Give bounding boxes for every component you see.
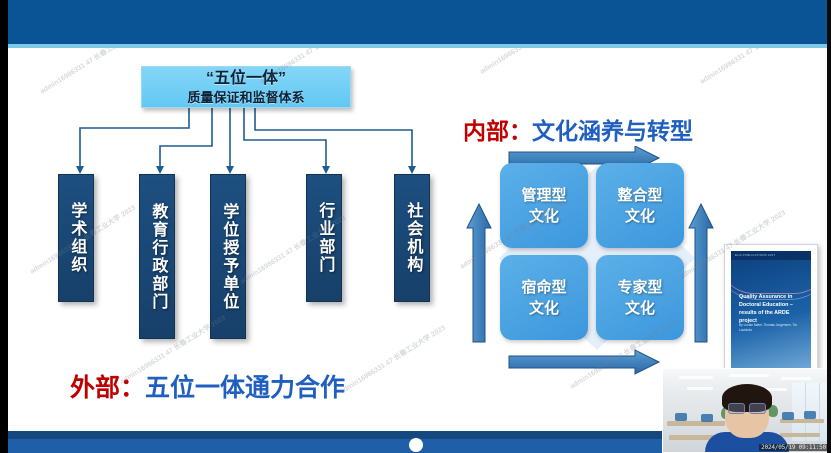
webcam-timestamp: 2024/05/19 09:11:50: [759, 444, 828, 451]
top-box-line1: “五位一体”: [142, 69, 350, 89]
pillar-social-institution: 社会机构: [394, 174, 430, 302]
heading-external: 外部：五位一体通力合作: [70, 368, 345, 404]
glasses-lens-right: [749, 403, 766, 414]
culture-quadrant: 管理型 文化 整合型 文化 宿命型 文化 专家型 文化: [498, 163, 698, 353]
desk: [667, 421, 725, 426]
pillar-label: 社会机构: [404, 202, 421, 274]
culture-line1: 宿命型: [521, 277, 566, 298]
arrow-bottom-right: [509, 350, 659, 374]
culture-box-expert: 专家型 文化: [596, 255, 684, 340]
footer-dot-indicator: [409, 438, 423, 452]
heading-internal-blue: 文化涵养与转型: [532, 118, 693, 144]
ceiling-light: [729, 374, 769, 377]
watermark: admin16986331 47 长春工业大学 2023: [698, 48, 808, 86]
webcam-room-background: [663, 369, 830, 452]
top-box-line2: 质量保证和监督体系: [142, 89, 350, 106]
culture-line1: 管理型: [521, 185, 566, 206]
webcam-video-overlay[interactable]: 2024/05/19 09:11:50: [662, 368, 831, 453]
heading-internal-red: 内部：: [463, 118, 532, 144]
slide-header-bar: [0, 0, 831, 44]
pillar-label: 行业部门: [316, 202, 333, 274]
heading-internal: 内部：文化涵养与转型: [463, 112, 693, 146]
heading-external-red: 外部：: [70, 374, 145, 402]
ceiling-light: [781, 377, 811, 380]
chair: [701, 414, 713, 422]
arrow-left-up: [467, 204, 491, 342]
culture-line2: 文化: [625, 298, 655, 319]
ceiling-light: [679, 376, 713, 379]
pillar-degree-granting-unit: 学位授予单位: [210, 174, 246, 339]
culture-line1: 整合型: [617, 185, 662, 206]
header-underline: [0, 44, 831, 48]
culture-box-integration: 整合型 文化: [596, 163, 684, 248]
pillar-label: 教育行政部门: [149, 203, 166, 311]
heading-external-blue: 五位一体通力合作: [145, 374, 345, 402]
pillar-label: 学位授予单位: [220, 203, 237, 311]
culture-line2: 文化: [625, 206, 655, 227]
left-black-gutter: [0, 0, 8, 453]
glasses-lens-left: [728, 403, 745, 414]
chair: [804, 411, 816, 419]
culture-box-fatalistic: 宿命型 文化: [500, 255, 588, 340]
ceiling-light: [687, 387, 713, 390]
watermark: admin16986331 47 长春工业大学 2023: [338, 323, 448, 397]
culture-box-management: 管理型 文化: [500, 163, 588, 248]
chair: [675, 413, 687, 421]
pillar-label: 学术组织: [68, 202, 85, 274]
culture-line2: 文化: [529, 206, 559, 227]
pillar-education-admin-department: 教育行政部门: [139, 174, 175, 339]
book-authors: By Lucian Matei, Thomas Jorgensen, Tia L…: [739, 323, 807, 333]
glasses-icon: [728, 403, 766, 412]
culture-line2: 文化: [529, 298, 559, 319]
pillar-academic-organization: 学术组织: [58, 174, 94, 302]
chair: [782, 412, 794, 420]
slide-root: （三）坚守质量标准的底线：夯实相关主体责任 “五位一体” 质量保证和监督: [0, 0, 831, 453]
right-black-gutter: [827, 0, 831, 453]
pillar-industry-department: 行业部门: [306, 174, 342, 302]
watermark: admin16986331 47 长春工业大学 2023: [478, 48, 588, 76]
culture-line1: 专家型: [617, 277, 662, 298]
top-system-box: “五位一体” 质量保证和监督体系: [141, 66, 351, 108]
book-title: Quality Assurance in Doctoral Education …: [739, 293, 807, 325]
desk: [780, 433, 820, 437]
watermark: admin16986331 47 长春工业大学 2023: [38, 48, 148, 96]
